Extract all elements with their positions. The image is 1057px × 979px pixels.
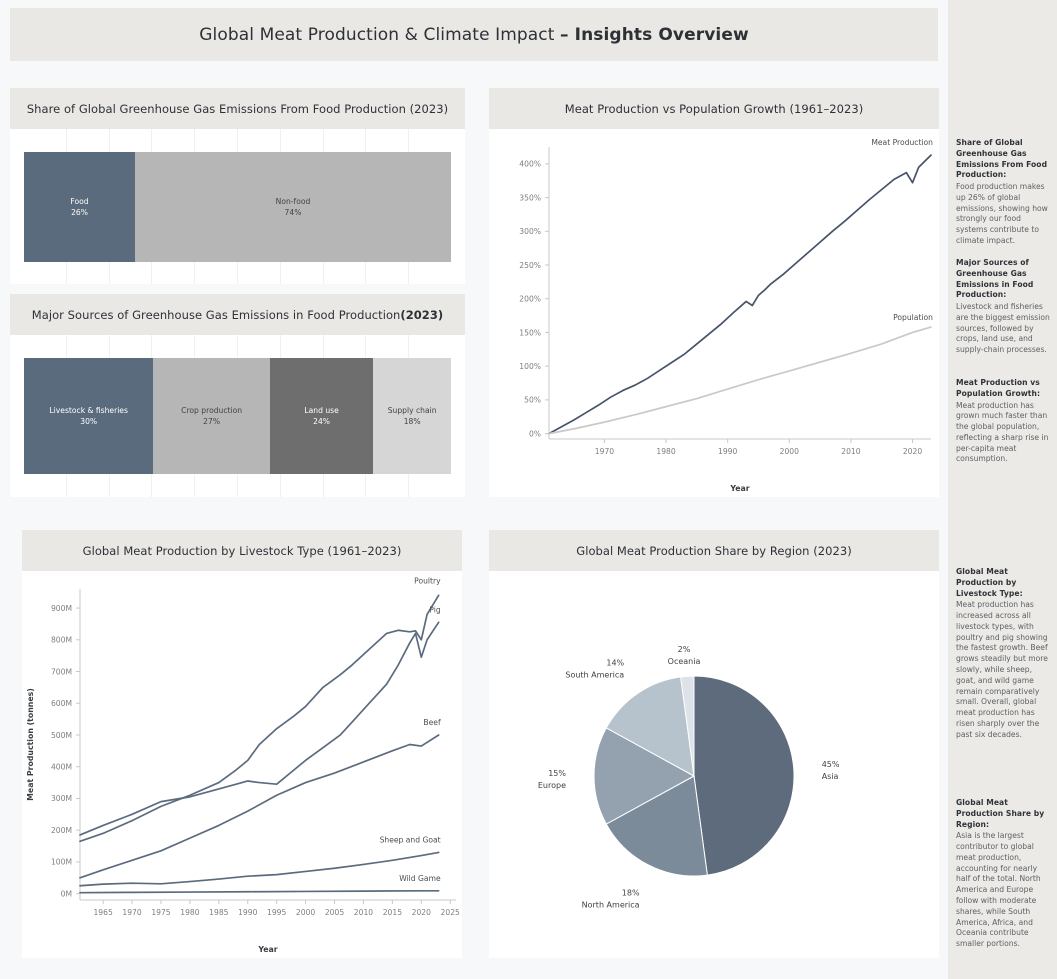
- bar-segment-label: Crop production: [181, 405, 242, 416]
- panel-major-sources: Major Sources of Greenhouse Gas Emission…: [10, 294, 465, 497]
- panel-region-share: Global Meat Production Share by Region (…: [489, 530, 939, 958]
- pie-label-asia: 45%Asia: [822, 760, 840, 781]
- pie-label-value: 2%: [678, 645, 691, 654]
- sidebar-note-body: Asia is the largest contributor to globa…: [956, 831, 1050, 950]
- y-tick-label: 150%: [519, 328, 541, 337]
- panel-meat-vs-population: Meat Production vs Population Growth (19…: [489, 88, 939, 497]
- page-title: Global Meat Production & Climate Impact …: [199, 25, 749, 45]
- pie-label-europe: 15%Europe: [538, 769, 567, 790]
- sidebar-note-body: Livestock and fisheries are the biggest …: [956, 302, 1050, 356]
- page-title-accent: – Insights Overview: [560, 25, 749, 45]
- bar-segment-label: Non-food: [276, 196, 311, 207]
- sidebar-note-title: Major Sources of Greenhouse Gas Emission…: [956, 258, 1050, 301]
- bar-segment-value: 30%: [80, 416, 97, 427]
- pie-label-name: Europe: [538, 781, 566, 790]
- x-tick-label: 1980: [656, 447, 675, 456]
- series-line-meat-production[interactable]: [549, 155, 931, 434]
- panel-meat-vs-population-title: Meat Production vs Population Growth (19…: [565, 102, 864, 116]
- stacked-bar-major-sources[interactable]: Livestock & fisheries30%Crop production2…: [24, 358, 451, 474]
- x-tick-label: 1985: [209, 908, 228, 917]
- series-label-beef: Beef: [423, 718, 441, 727]
- sidebar-note-2: Major Sources of Greenhouse Gas Emission…: [956, 258, 1050, 356]
- y-tick-label: 900M: [51, 604, 72, 613]
- bar-segment-livestock-fisheries[interactable]: Livestock & fisheries30%: [24, 358, 153, 474]
- series-label-meat-production: Meat Production: [871, 138, 933, 147]
- sidebar-note-title: Meat Production vs Population Growth:: [956, 378, 1050, 400]
- bar-segment-value: 18%: [404, 416, 421, 427]
- y-tick-label: 100%: [519, 362, 541, 371]
- series-label-pig: Pig: [429, 605, 441, 614]
- series-line-wild-game[interactable]: [80, 891, 439, 893]
- page-title-main: Global Meat Production & Climate Impact: [199, 25, 560, 45]
- sidebar-note-5: Global Meat Production Share by Region:A…: [956, 798, 1050, 950]
- y-tick-label: 0%: [529, 429, 541, 438]
- pie-label-name: North America: [582, 901, 640, 910]
- pie-slice-asia[interactable]: [694, 676, 794, 875]
- bar-segment-value: 26%: [71, 207, 88, 218]
- x-axis-title: Year: [257, 945, 277, 954]
- series-label-wild-game: Wild Game: [399, 874, 441, 883]
- x-axis-title: Year: [729, 484, 749, 493]
- series-label-poultry: Poultry: [414, 576, 441, 585]
- x-tick-label: 1970: [122, 908, 141, 917]
- bar-segment-food[interactable]: Food26%: [24, 152, 135, 262]
- y-tick-label: 300%: [519, 227, 541, 236]
- x-tick-label: 2020: [412, 908, 431, 917]
- panel-major-sources-title: Major Sources of Greenhouse Gas Emission…: [32, 308, 443, 322]
- pie-label-name: South America: [565, 671, 624, 680]
- bar-segment-crop-production[interactable]: Crop production27%: [153, 358, 269, 474]
- x-tick-label: 2025: [441, 908, 460, 917]
- x-tick-label: 2020: [903, 447, 922, 456]
- panel-emissions-share: Share of Global Greenhouse Gas Emissions…: [10, 88, 465, 284]
- panel-emissions-share-title: Share of Global Greenhouse Gas Emissions…: [27, 102, 448, 116]
- y-tick-label: 400%: [519, 160, 541, 169]
- panel-meat-vs-population-body: 0%50%100%150%200%250%300%350%400%1970198…: [489, 129, 939, 497]
- region-share-piechart[interactable]: 45%Asia18%North America15%Europe14%South…: [489, 571, 939, 958]
- y-tick-label: 300M: [51, 794, 72, 803]
- bar-segment-value: 74%: [285, 207, 302, 218]
- y-tick-label: 250%: [519, 261, 541, 270]
- x-tick-label: 1995: [267, 908, 286, 917]
- insights-sidebar: Share of Global Greenhouse Gas Emissions…: [948, 0, 1057, 979]
- pie-label-south-america: 14%South America: [565, 659, 624, 680]
- bar-segment-value: 24%: [313, 416, 330, 427]
- y-tick-label: 600M: [51, 699, 72, 708]
- sidebar-note-body: Meat production has increased across all…: [956, 600, 1050, 740]
- sidebar-note-title: Global Meat Production by Livestock Type…: [956, 567, 1050, 599]
- bar-segment-non-food[interactable]: Non-food74%: [135, 152, 451, 262]
- pie-label-value: 14%: [606, 659, 624, 668]
- x-tick-label: 2000: [296, 908, 315, 917]
- sidebar-note-3: Meat Production vs Population Growth:Mea…: [956, 378, 1050, 465]
- livestock-type-linechart[interactable]: 0M100M200M300M400M500M600M700M800M900M19…: [22, 571, 462, 958]
- x-tick-label: 1990: [238, 908, 257, 917]
- series-line-beef[interactable]: [80, 735, 439, 878]
- series-label-sheep-and-goat: Sheep and Goat: [380, 835, 441, 844]
- bar-segment-value: 27%: [203, 416, 220, 427]
- pie-label-value: 45%: [822, 760, 840, 769]
- sidebar-note-body: Meat production has grown much faster th…: [956, 401, 1050, 466]
- panel-major-sources-header: Major Sources of Greenhouse Gas Emission…: [10, 294, 465, 335]
- x-tick-label: 2015: [383, 908, 402, 917]
- panel-region-share-body: 45%Asia18%North America15%Europe14%South…: [489, 571, 939, 958]
- major-sources-chart: Livestock & fisheries30%Crop production2…: [10, 335, 465, 497]
- x-tick-label: 2010: [841, 447, 860, 456]
- y-tick-label: 50%: [524, 396, 541, 405]
- panel-region-share-title: Global Meat Production Share by Region (…: [576, 544, 852, 558]
- y-tick-label: 100M: [51, 858, 72, 867]
- bar-segment-label: Food: [70, 196, 88, 207]
- y-tick-label: 700M: [51, 667, 72, 676]
- bar-segment-label: Supply chain: [388, 405, 437, 416]
- panel-meat-vs-population-header: Meat Production vs Population Growth (19…: [489, 88, 939, 129]
- y-tick-label: 350%: [519, 193, 541, 202]
- sidebar-note-4: Global Meat Production by Livestock Type…: [956, 567, 1050, 741]
- pie-label-value: 15%: [548, 769, 566, 778]
- panel-major-sources-title-main: Major Sources of Greenhouse Gas Emission…: [32, 308, 401, 322]
- x-tick-label: 2005: [325, 908, 344, 917]
- panel-emissions-share-body: Food26%Non-food74%: [10, 129, 465, 284]
- x-tick-label: 1975: [151, 908, 170, 917]
- x-tick-label: 2010: [354, 908, 373, 917]
- panel-livestock-type-title: Global Meat Production by Livestock Type…: [83, 544, 402, 558]
- dashboard-title-bar: Global Meat Production & Climate Impact …: [10, 8, 938, 61]
- panel-livestock-type-body: 0M100M200M300M400M500M600M700M800M900M19…: [22, 571, 462, 958]
- x-tick-label: 1990: [718, 447, 737, 456]
- panel-major-sources-body: Livestock & fisheries30%Crop production2…: [10, 335, 465, 497]
- sidebar-note-body: Food production makes up 26% of global e…: [956, 182, 1050, 247]
- bar-segment-supply-chain[interactable]: Supply chain18%: [373, 358, 451, 474]
- panel-major-sources-title-accent: (2023): [400, 308, 443, 322]
- bar-segment-land-use[interactable]: Land use24%: [270, 358, 374, 474]
- panel-livestock-type: Global Meat Production by Livestock Type…: [22, 530, 462, 958]
- sidebar-note-1: Share of Global Greenhouse Gas Emissions…: [956, 138, 1050, 247]
- meat-vs-population-linechart[interactable]: 0%50%100%150%200%250%300%350%400%1970198…: [489, 129, 939, 497]
- y-tick-label: 800M: [51, 636, 72, 645]
- series-line-sheep-and-goat[interactable]: [80, 852, 439, 885]
- pie-label-name: Asia: [822, 772, 839, 781]
- x-tick-label: 1965: [93, 908, 112, 917]
- sidebar-note-title: Global Meat Production Share by Region:: [956, 798, 1050, 830]
- main-area: Global Meat Production & Climate Impact …: [0, 0, 948, 979]
- y-tick-label: 500M: [51, 731, 72, 740]
- pie-label-name: Oceania: [668, 657, 701, 666]
- bar-segment-label: Livestock & fisheries: [49, 405, 128, 416]
- y-tick-label: 200%: [519, 295, 541, 304]
- pie-label-value: 18%: [622, 889, 640, 898]
- x-tick-label: 1980: [180, 908, 199, 917]
- series-line-population[interactable]: [549, 327, 931, 434]
- panel-region-share-header: Global Meat Production Share by Region (…: [489, 530, 939, 571]
- dashboard-root: Global Meat Production & Climate Impact …: [0, 0, 1057, 979]
- x-tick-label: 1970: [595, 447, 614, 456]
- panel-livestock-type-header: Global Meat Production by Livestock Type…: [22, 530, 462, 571]
- emissions-share-chart: Food26%Non-food74%: [10, 129, 465, 284]
- x-tick-label: 2000: [780, 447, 799, 456]
- pie-label-oceania: 2%Oceania: [668, 645, 701, 666]
- y-tick-label: 200M: [51, 826, 72, 835]
- y-tick-label: 400M: [51, 763, 72, 772]
- y-tick-label: 0M: [61, 889, 72, 898]
- panel-emissions-share-header: Share of Global Greenhouse Gas Emissions…: [10, 88, 465, 129]
- sidebar-note-title: Share of Global Greenhouse Gas Emissions…: [956, 138, 1050, 181]
- series-line-pig[interactable]: [80, 622, 439, 835]
- series-label-population: Population: [893, 313, 933, 322]
- stacked-bar-emissions[interactable]: Food26%Non-food74%: [24, 152, 451, 262]
- y-axis-title: Meat Production (tonnes): [26, 688, 35, 801]
- pie-label-north-america: 18%North America: [582, 889, 640, 910]
- bar-segment-label: Land use: [304, 405, 338, 416]
